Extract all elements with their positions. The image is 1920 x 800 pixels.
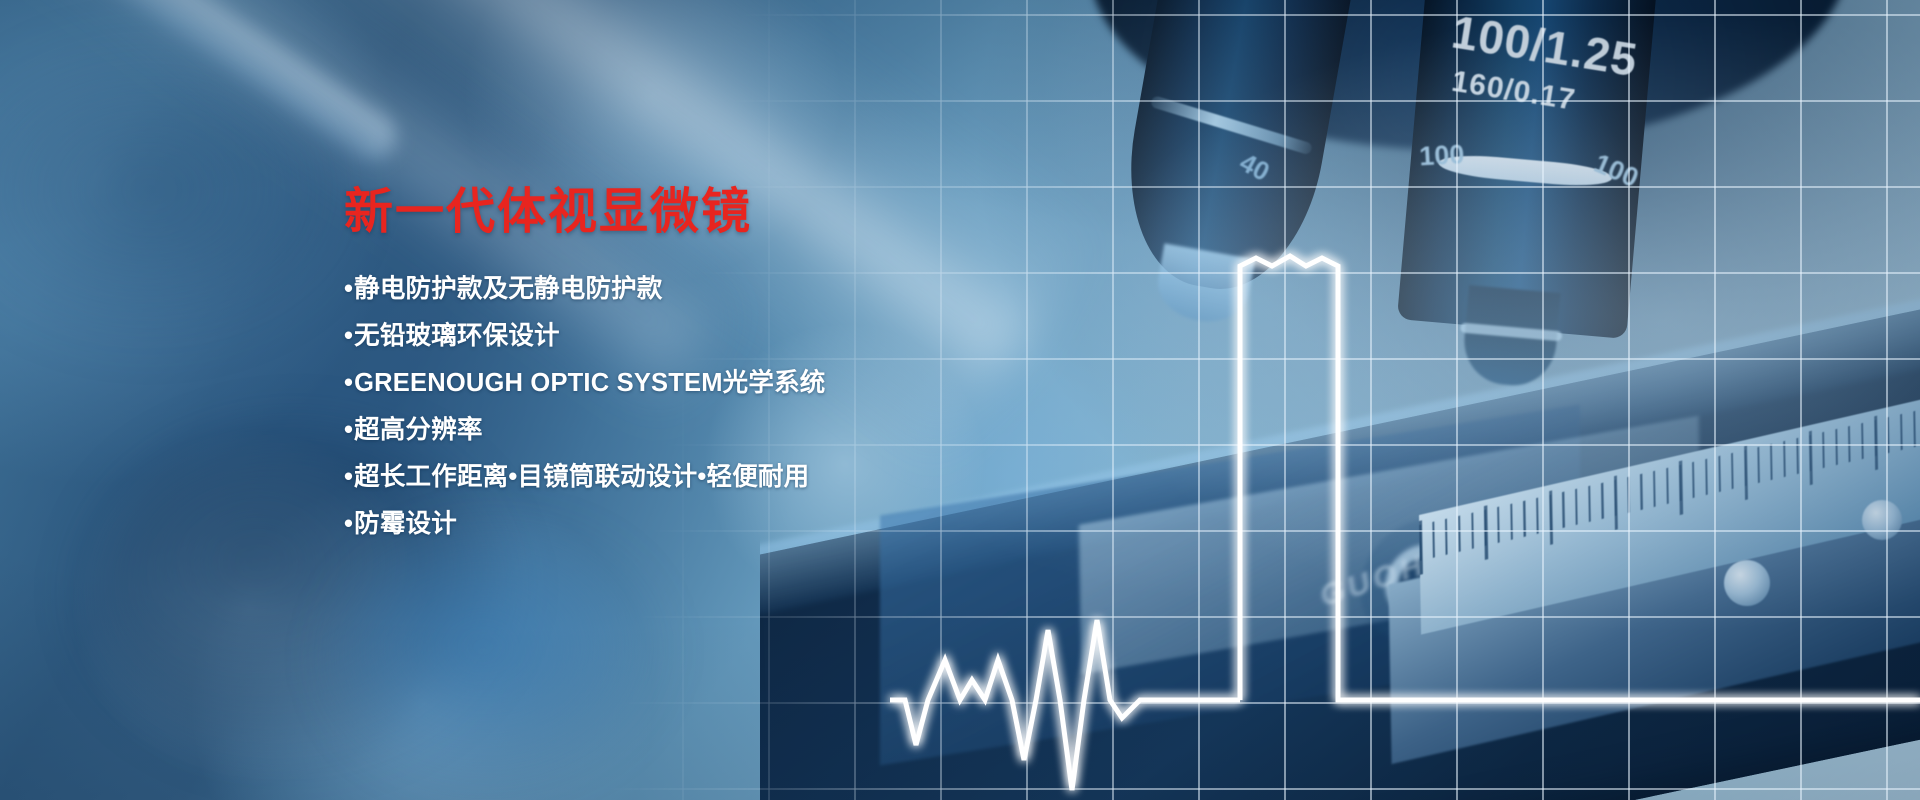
bullet-dot-icon: • <box>344 416 353 444</box>
bullet-dot-icon: • <box>344 369 353 397</box>
list-item-label: 防霉设计 <box>354 510 457 538</box>
page-title: 新一代体视显微镜 <box>344 186 984 239</box>
list-item: •超长工作距离•目镜筒联动设计•轻便耐用 <box>344 465 984 491</box>
list-item-label: 超高分辨率 <box>354 416 483 444</box>
list-item: •防霉设计 <box>344 512 984 538</box>
microscope-product-banner: GUOHUA 40 100/1.25 160/0.17 100 100 <box>0 0 1920 800</box>
list-item: •超高分辨率 <box>344 418 984 444</box>
list-item-label: GREENOUGH OPTIC SYSTEM光学系统 <box>354 369 825 397</box>
list-item: •无铅玻璃环保设计 <box>344 324 984 350</box>
bullet-dot-icon: • <box>344 322 353 350</box>
bullet-dot-icon: • <box>344 510 353 538</box>
feature-list: •静电防护款及无静电防护款 •无铅玻璃环保设计 •GREENOUGH OPTIC… <box>344 277 984 538</box>
copy-block: 新一代体视显微镜 •静电防护款及无静电防护款 •无铅玻璃环保设计 •GREENO… <box>344 186 984 559</box>
bullet-dot-icon: • <box>344 275 353 303</box>
list-item-label: 无铅玻璃环保设计 <box>354 322 560 350</box>
list-item-label: 静电防护款及无静电防护款 <box>354 275 662 303</box>
bullet-dot-icon: • <box>344 463 353 491</box>
list-item: •静电防护款及无静电防护款 <box>344 277 984 303</box>
list-item-label: 超长工作距离•目镜筒联动设计•轻便耐用 <box>354 463 809 491</box>
list-item: •GREENOUGH OPTIC SYSTEM光学系统 <box>344 371 984 397</box>
